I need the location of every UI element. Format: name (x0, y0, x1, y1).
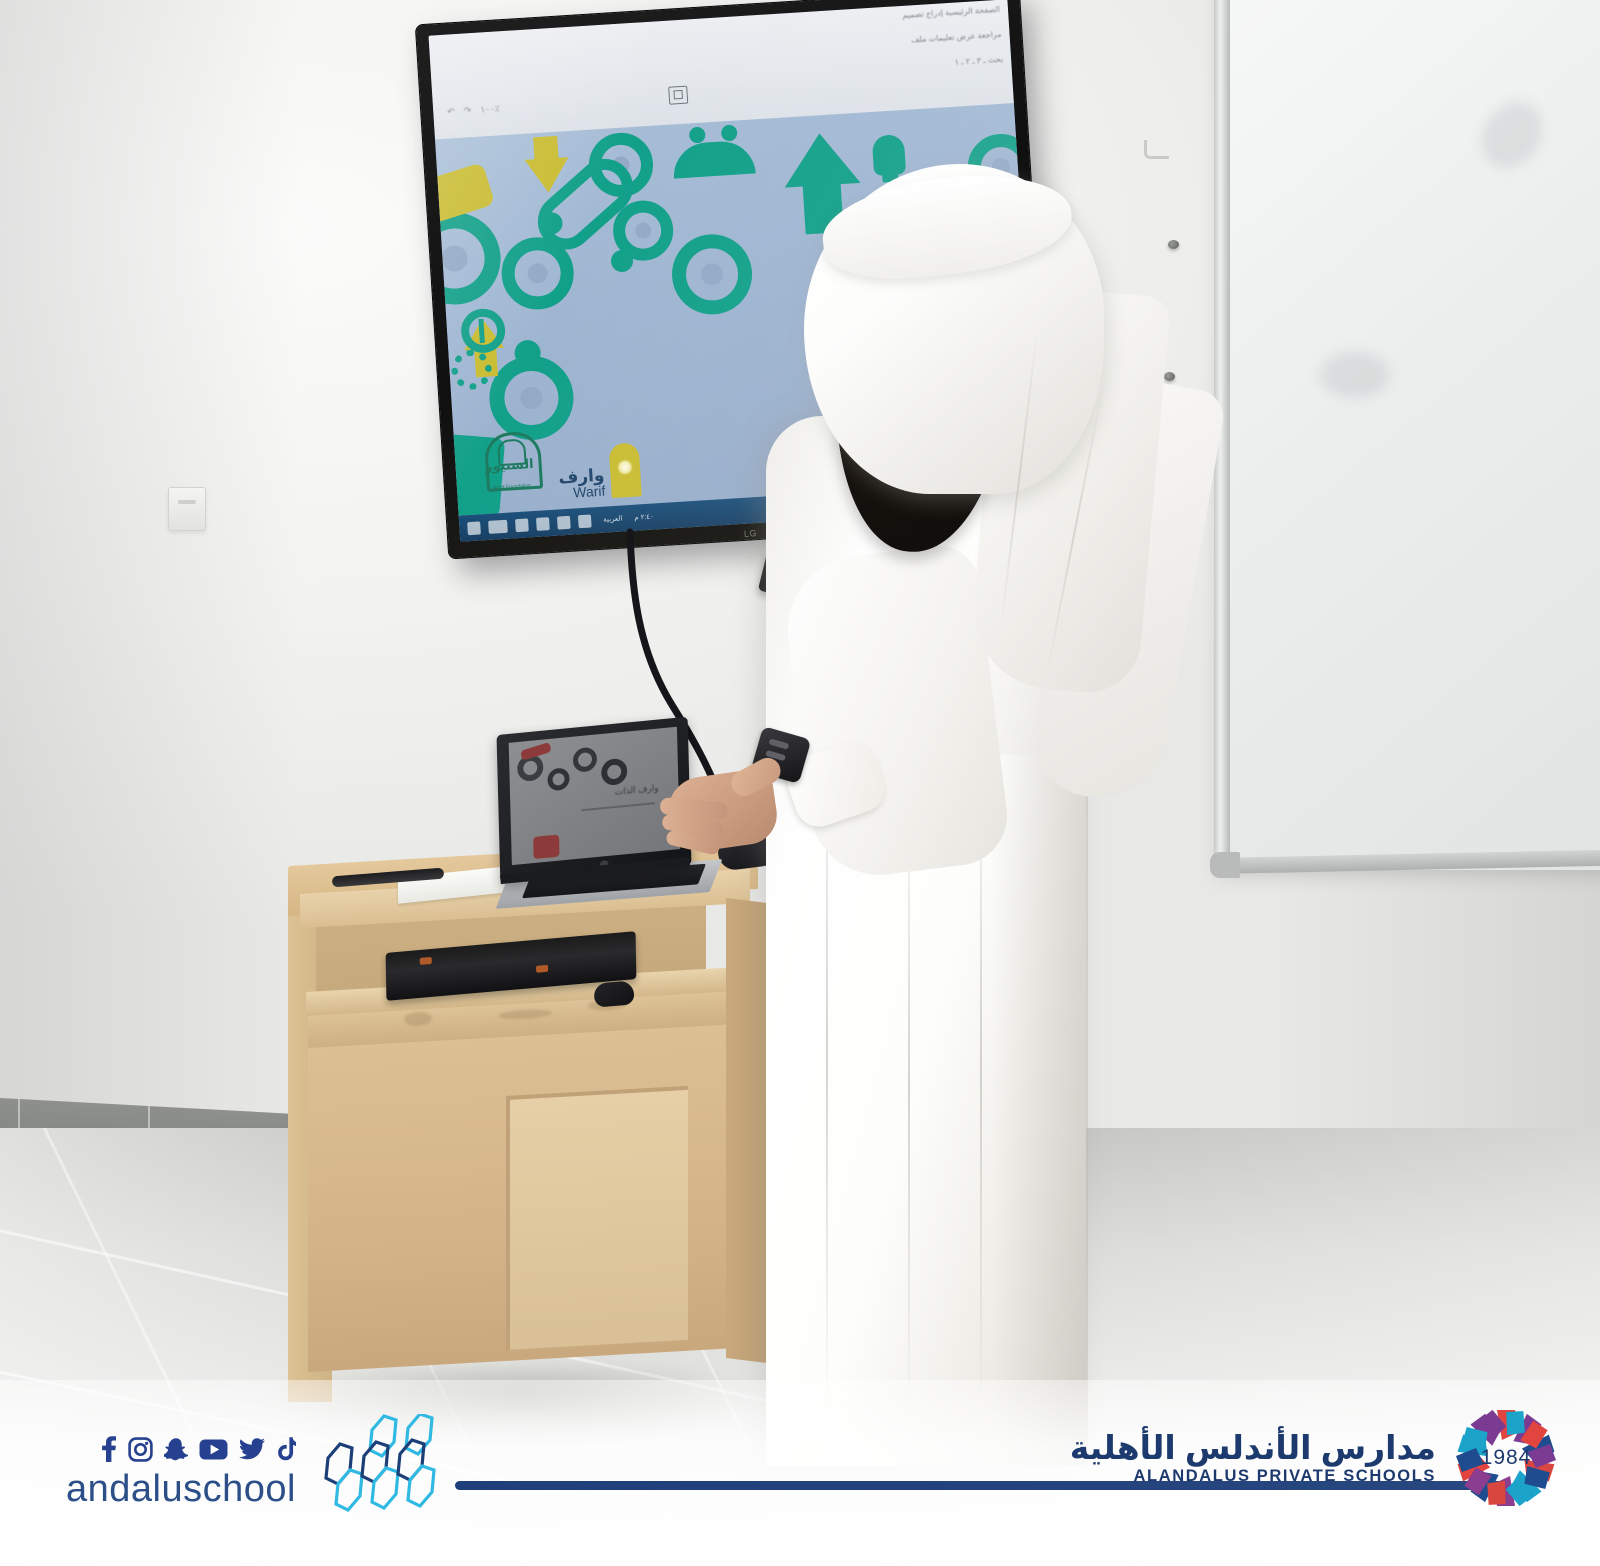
snapchat-icon[interactable] (164, 1437, 188, 1462)
belt-pulley-icon (610, 249, 633, 272)
ribbon-row-a: الصفحة الرئيسية إدراج تصميم (902, 5, 1000, 20)
crop-icon (668, 86, 688, 105)
masjid-logo-arabic: السنيور (487, 456, 534, 475)
school-handle[interactable]: andaluschool (66, 1468, 296, 1511)
gear-icon (573, 747, 598, 773)
wall-socket (168, 487, 206, 531)
start-icon[interactable] (467, 521, 481, 535)
warif-logo: وارف Warif (557, 442, 642, 501)
accent-shape-red (533, 835, 559, 860)
explorer-icon[interactable] (536, 517, 550, 531)
person-head-icon (721, 125, 738, 142)
whiteboard-corner-cap (1210, 852, 1240, 878)
ribbon-glyph-group: ↶ ↷ ١٠٠٪ (447, 103, 500, 117)
tiktok-icon[interactable] (276, 1437, 296, 1461)
photo-canvas: الصفحة الرئيسية إدراج تصميم مراجعة عرض ت… (0, 0, 1600, 1566)
youtube-icon[interactable] (199, 1439, 228, 1460)
founding-year: 1984 (1450, 1446, 1562, 1470)
warif-palm-mark-icon (608, 442, 641, 498)
school-name-english: ALANDALUS PRIVATE SCHOOLS (1134, 1467, 1436, 1486)
gear-icon (547, 767, 569, 791)
head (812, 170, 1112, 470)
instagram-icon[interactable] (128, 1437, 153, 1462)
undo-icon: ↶ (447, 106, 455, 117)
search-icon[interactable] (488, 519, 508, 533)
person-head-icon (689, 127, 706, 144)
footer-bar: andaluschool مدارس الأندلس الأهلية (0, 1380, 1600, 1566)
hexagon-chevron-mark-icon (312, 1414, 457, 1514)
alandalus-star-logo-icon: 1984 (1450, 1402, 1562, 1514)
school-brand-lockup: مدارس الأندلس الأهلية ALANDALUS PRIVATE … (1070, 1402, 1562, 1514)
gear-icon (435, 210, 503, 308)
zoom-percent-label: ١٠٠٪ (480, 103, 500, 115)
social-icon-row (100, 1436, 296, 1462)
ribbon-row-b: مراجعة عرض تعليمات ملف (911, 30, 1002, 45)
redo-icon: ↷ (464, 105, 472, 116)
wall-shadow-left (0, 0, 300, 1140)
taskview-icon[interactable] (515, 518, 529, 532)
warif-logo-english: Warif (573, 483, 606, 500)
masjid-foundation-logo: السنيور Waqf Foundation (478, 431, 544, 507)
arrow-down-shaft (533, 136, 559, 163)
wall-hook (1144, 140, 1169, 159)
hand (656, 756, 806, 876)
slide-logo-row: السنيور Waqf Foundation وارف Warif (478, 424, 642, 506)
mouse[interactable] (593, 980, 635, 1007)
facebook-icon[interactable] (100, 1436, 117, 1462)
ribbon-row-c: بحث ـ ٣ ـ ٢ ـ ١ (954, 55, 1003, 67)
presenter (640, 160, 1200, 1460)
arrow-down-gold-icon (524, 157, 570, 194)
whiteboard (1222, 0, 1600, 870)
school-name-arabic: مدارس الأندلس الأهلية (1070, 1430, 1436, 1467)
twitter-icon[interactable] (239, 1438, 265, 1460)
gear-icon (601, 758, 628, 787)
